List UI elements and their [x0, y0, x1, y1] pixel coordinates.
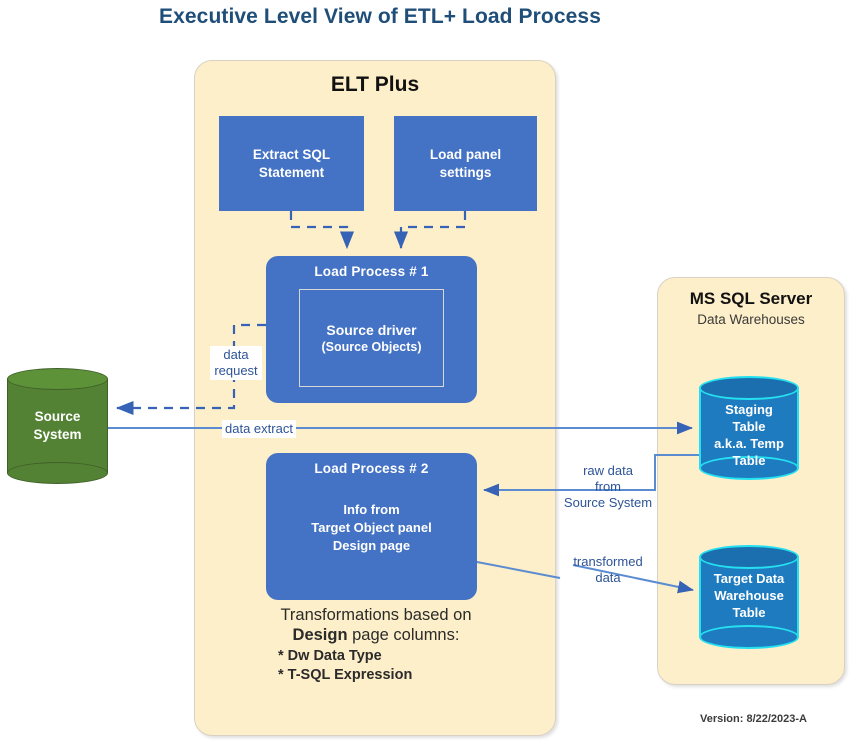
target-line2: Warehouse	[699, 587, 799, 604]
design-keyword: Design	[293, 626, 348, 644]
target-line3: Table	[699, 604, 799, 621]
source-system-database-icon[interactable]: Source System	[7, 368, 108, 484]
transformations-note: Transformations based on Design page col…	[256, 606, 496, 683]
lp2-line2: Target Object panel	[266, 519, 477, 537]
raw-data-line3: Source System	[561, 495, 655, 511]
label-raw-data: raw data from Source System	[561, 463, 655, 511]
transformation-bullet-2: * T-SQL Expression	[256, 667, 496, 683]
load-process-1-box[interactable]: Load Process # 1 Source driver (Source O…	[266, 256, 477, 403]
load-process-1-title: Load Process # 1	[266, 264, 477, 279]
source-system-line2: System	[7, 426, 108, 444]
lp2-line1: Info from	[266, 501, 477, 519]
transformations-line2: Design page columns:	[256, 626, 496, 645]
version-stamp: Version: 8/22/2023-A	[700, 713, 807, 725]
load-panel-line1: Load panel	[430, 146, 501, 164]
lp2-line3: Design page	[266, 537, 477, 555]
transformed-line1: transformed	[563, 554, 653, 570]
load-process-2-title: Load Process # 2	[266, 461, 477, 476]
raw-data-line1: raw data	[561, 463, 655, 479]
source-system-label: Source System	[7, 408, 108, 444]
label-transformed-data: transformed data	[563, 554, 653, 586]
ms-sql-server-subtitle: Data Warehouses	[658, 312, 844, 327]
transformation-bullet-1: * Dw Data Type	[256, 648, 496, 664]
data-request-line1: data	[212, 347, 260, 363]
cylinder-bottom	[699, 625, 799, 649]
label-data-request: data request	[210, 346, 262, 380]
ms-sql-server-title: MS SQL Server	[658, 289, 844, 309]
transformations-line1: Transformations based on	[256, 606, 496, 625]
page-title: Executive Level View of ETL+ Load Proces…	[0, 5, 760, 29]
raw-data-line2: from	[561, 479, 655, 495]
elt-plus-title: ELT Plus	[195, 73, 555, 97]
source-objects-label: (Source Objects)	[321, 340, 421, 354]
diagram-canvas: Executive Level View of ETL+ Load Proces…	[0, 0, 861, 753]
staging-line3: a.k.a. Temp	[699, 435, 799, 452]
load-process-2-body: Info from Target Object panel Design pag…	[266, 501, 477, 555]
data-request-line2: request	[212, 363, 260, 379]
source-driver-inner-box: Source driver (Source Objects)	[299, 289, 444, 387]
extract-sql-line1: Extract SQL	[253, 146, 330, 164]
label-data-extract: data extract	[222, 420, 296, 438]
target-table-label: Target Data Warehouse Table	[699, 570, 799, 621]
transformations-line2-rest: page columns:	[348, 626, 460, 644]
load-panel-settings-box[interactable]: Load panel settings	[394, 116, 537, 211]
load-process-2-box[interactable]: Load Process # 2 Info from Target Object…	[266, 453, 477, 600]
extract-sql-statement-box[interactable]: Extract SQL Statement	[219, 116, 364, 211]
cylinder-top	[699, 545, 799, 569]
cylinder-top	[7, 368, 108, 390]
staging-table-database-icon[interactable]: Staging Table a.k.a. Temp Table	[699, 376, 799, 480]
target-data-warehouse-database-icon[interactable]: Target Data Warehouse Table	[699, 545, 799, 649]
staging-line1: Staging	[699, 401, 799, 418]
load-panel-line2: settings	[430, 164, 501, 182]
cylinder-top	[699, 376, 799, 400]
extract-sql-line2: Statement	[253, 164, 330, 182]
source-system-line1: Source	[7, 408, 108, 426]
staging-line2: Table	[699, 418, 799, 435]
source-driver-label: Source driver	[326, 322, 416, 338]
cylinder-bottom	[7, 462, 108, 484]
transformed-line2: data	[563, 570, 653, 586]
staging-line4: Table	[699, 452, 799, 469]
staging-table-label: Staging Table a.k.a. Temp Table	[699, 401, 799, 469]
target-line1: Target Data	[699, 570, 799, 587]
